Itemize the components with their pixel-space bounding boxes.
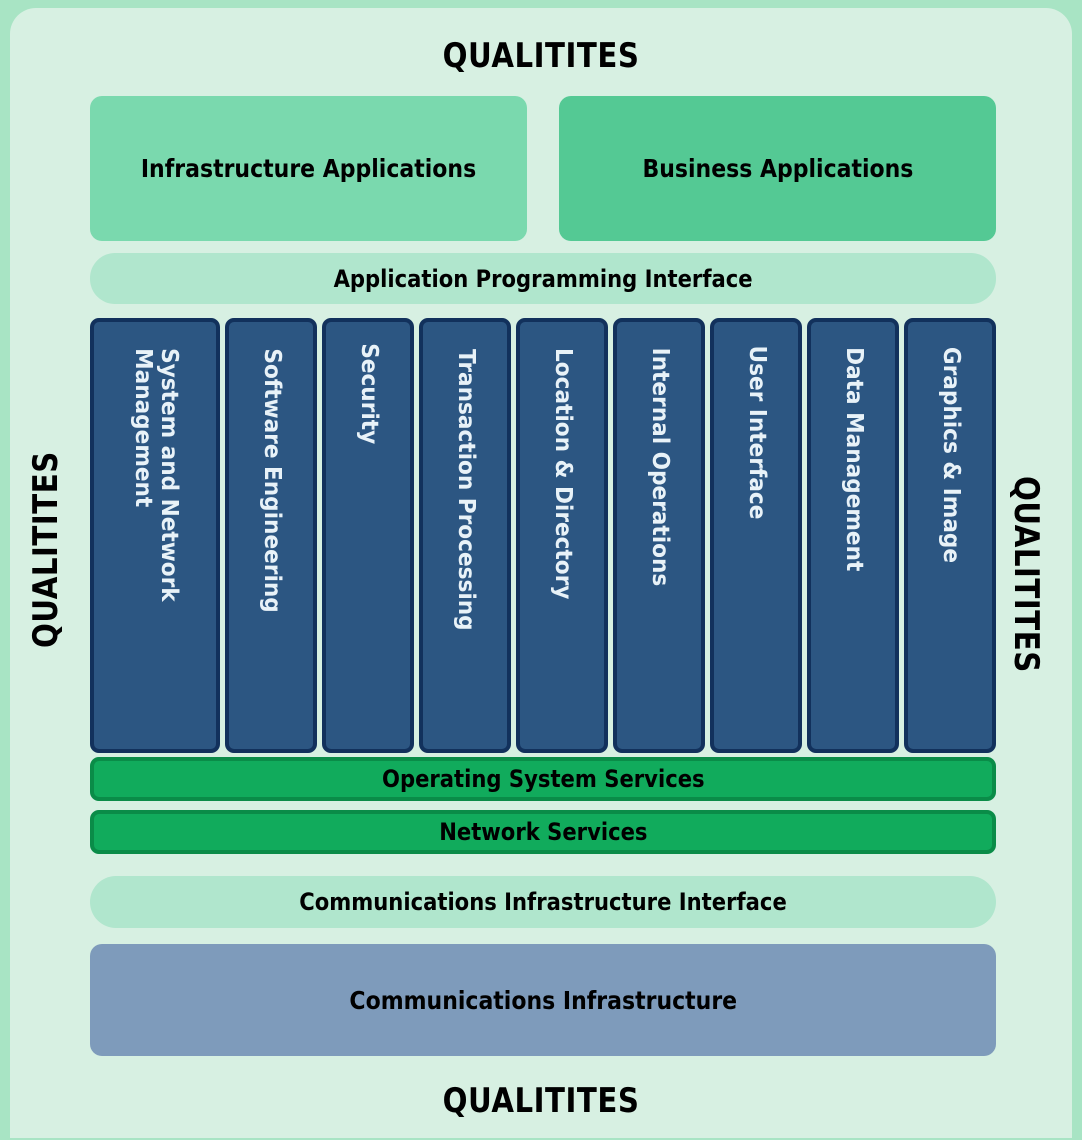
communications-infrastructure-interface-label: Communications Infrastructure Interface	[299, 888, 787, 916]
service-column-internal-operations[interactable]: Internal Operations	[613, 318, 705, 753]
service-column-software-engineering[interactable]: Software Engineering	[225, 318, 317, 753]
title-top: QUALITITES	[84, 36, 997, 76]
service-column-label: Transaction Processing	[452, 349, 478, 631]
business-applications-box[interactable]: Business Applications	[559, 96, 996, 241]
operating-system-services-label: Operating System Services	[382, 765, 705, 793]
service-column-label: System and Network Management	[129, 348, 181, 602]
title-left: QUALITITES	[26, 476, 66, 648]
service-column-label: Location & Directory	[549, 348, 575, 599]
service-column-label: User Interface	[743, 346, 769, 520]
diagram-panel: QUALITITES QUALITITES QUALITITES Infrast…	[10, 8, 1072, 1138]
service-column-label: Internal Operations	[646, 348, 672, 587]
service-column-user-interface[interactable]: User Interface	[710, 318, 802, 753]
service-column-label: Data Management	[840, 347, 866, 571]
network-services-label: Network Services	[439, 818, 647, 846]
service-column-graphics-and-image[interactable]: Graphics & Image	[904, 318, 996, 753]
application-programming-interface-bar[interactable]: Application Programming Interface	[90, 253, 996, 304]
application-programming-interface-label: Application Programming Interface	[333, 265, 752, 293]
operating-system-services-bar[interactable]: Operating System Services	[90, 757, 996, 801]
service-column-system-and-network-management[interactable]: System and Network Management	[90, 318, 220, 753]
service-column-data-management[interactable]: Data Management	[807, 318, 899, 753]
service-columns-group: System and Network Management Software E…	[90, 318, 996, 753]
diagram-outer-frame: QUALITITES QUALITITES QUALITITES Infrast…	[0, 0, 1082, 1140]
network-services-bar[interactable]: Network Services	[90, 810, 996, 854]
service-column-label: Software Engineering	[258, 348, 284, 612]
business-applications-label: Business Applications	[642, 154, 913, 183]
service-column-label: Graphics & Image	[937, 347, 963, 563]
service-column-transaction-processing[interactable]: Transaction Processing	[419, 318, 511, 753]
service-column-label: Security	[355, 343, 381, 444]
service-column-security[interactable]: Security	[322, 318, 414, 753]
infrastructure-applications-box[interactable]: Infrastructure Applications	[90, 96, 527, 241]
communications-infrastructure-interface-bar[interactable]: Communications Infrastructure Interface	[90, 876, 996, 928]
communications-infrastructure-box[interactable]: Communications Infrastructure	[90, 944, 996, 1056]
title-bottom: QUALITITES	[84, 1081, 997, 1121]
service-column-location-and-directory[interactable]: Location & Directory	[516, 318, 608, 753]
communications-infrastructure-label: Communications Infrastructure	[349, 986, 737, 1015]
infrastructure-applications-label: Infrastructure Applications	[141, 154, 476, 183]
title-right: QUALITITES	[1006, 476, 1046, 648]
